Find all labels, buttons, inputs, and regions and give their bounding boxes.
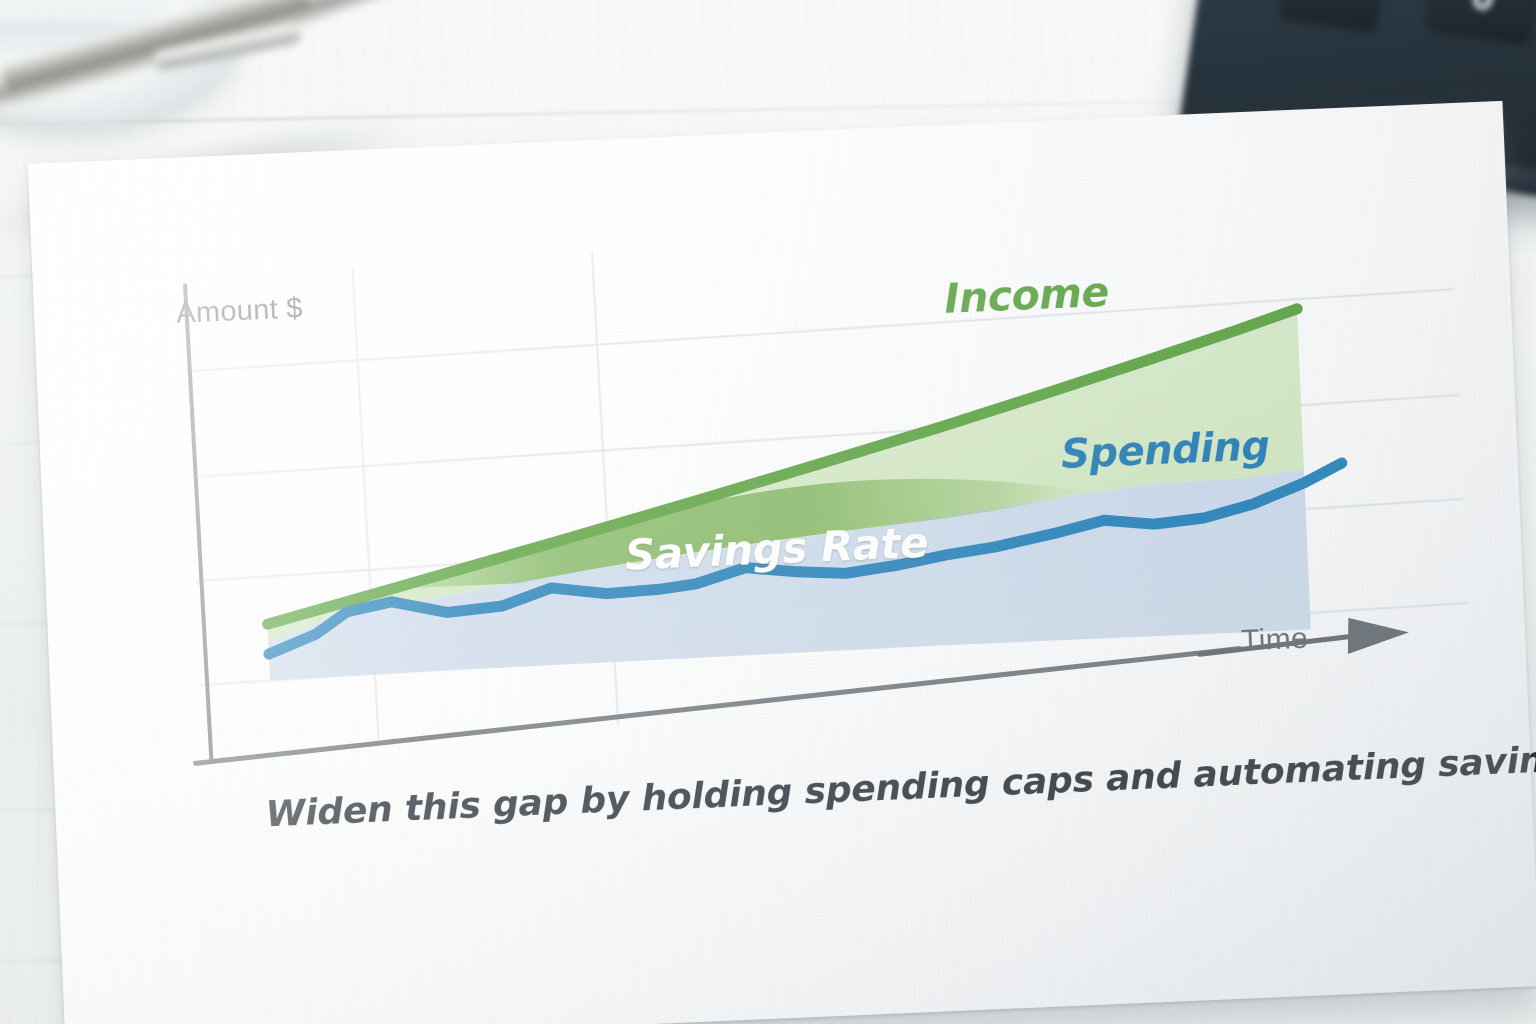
series-label-income: Income [943,268,1109,323]
y-axis [185,285,211,761]
chart-figure: Amount $ Time Income Spending Savings Ra… [28,101,1536,1024]
x-axis-label: Time [1241,622,1309,659]
paper-sheet: Amount $ Time Income Spending Savings Ra… [28,101,1536,1024]
y-axis-label: Amount $ [176,292,304,330]
arrow-right-icon [1346,615,1409,654]
screenshot-stage: − 0 [0,0,1536,1024]
series-label-spending: Spending [1060,423,1270,478]
